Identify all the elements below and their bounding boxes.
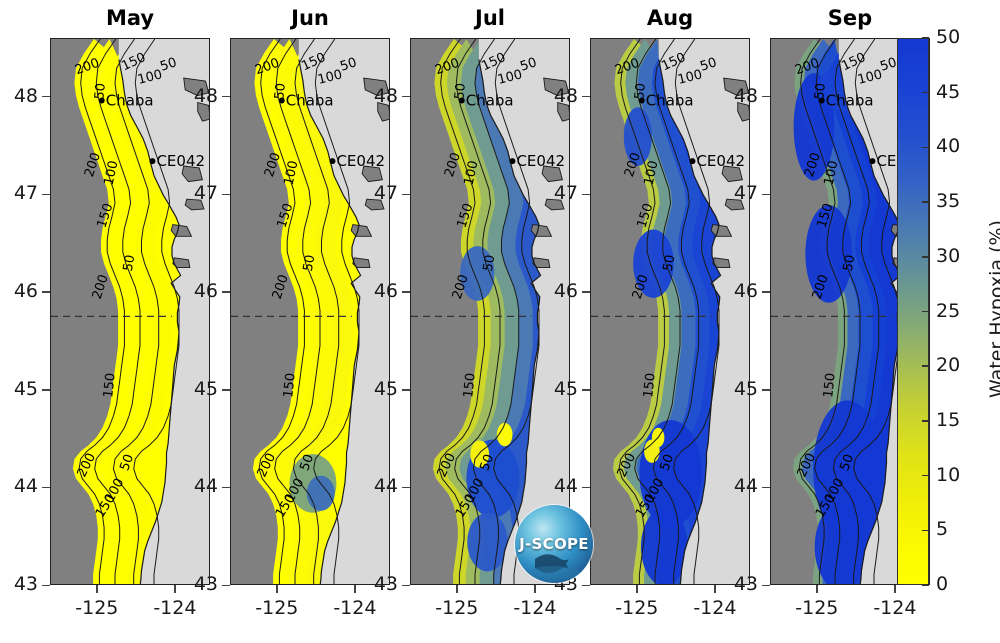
ytick-label: 43 [358, 573, 398, 595]
colorbar-tick-mark [922, 475, 929, 477]
colorbar-tick-mark [922, 147, 929, 149]
xtick-label: -124 [505, 597, 565, 619]
svg-text:150: 150 [101, 372, 119, 398]
j-scope-logo: J-SCOPE [515, 505, 593, 583]
xtick-label: -125 [427, 597, 487, 619]
station-label-ce042: CE042 [696, 152, 745, 170]
map-panel-jul: 2001001505020015020050100150200150501005… [410, 38, 570, 585]
xtick-mark [276, 585, 277, 593]
xtick-mark [456, 585, 457, 593]
colorbar-tick-mark [922, 311, 929, 313]
station-label-chaba: Chaba [646, 92, 694, 110]
ytick-mark [222, 389, 230, 390]
ytick-label: 43 [0, 573, 38, 595]
colorbar-tick-mark [922, 420, 929, 422]
xtick-mark [816, 585, 817, 593]
hypoxia-figure: May2001001505020015020050100150200150501… [0, 0, 1000, 643]
xtick-label: -125 [247, 597, 307, 619]
xtick-label: -125 [787, 597, 847, 619]
colorbar-tick-label: 35 [936, 190, 960, 212]
ytick-label: 48 [178, 85, 218, 107]
ytick-mark [42, 96, 50, 97]
colorbar-tick-label: 20 [936, 354, 960, 376]
ytick-mark [42, 389, 50, 390]
j-scope-logo-text: J-SCOPE [515, 535, 593, 553]
station-label-chaba: Chaba [286, 92, 334, 110]
xtick-mark [96, 585, 97, 593]
svg-text:50: 50 [841, 254, 859, 273]
xtick-mark [354, 585, 355, 593]
svg-text:50: 50 [301, 254, 319, 273]
ytick-mark [762, 291, 770, 292]
station-label-chaba: Chaba [466, 92, 514, 110]
ytick-label: 48 [358, 85, 398, 107]
ytick-label: 45 [538, 378, 578, 400]
colorbar-tick-label: 25 [936, 300, 960, 322]
colorbar-tick-label: 0 [936, 573, 948, 595]
ytick-label: 45 [718, 378, 758, 400]
colorbar-tick-label: 10 [936, 464, 960, 486]
ytick-label: 44 [358, 475, 398, 497]
ytick-mark [762, 487, 770, 488]
ytick-label: 43 [178, 573, 218, 595]
colorbar-tick-label: 30 [936, 245, 960, 267]
svg-text:150: 150 [281, 372, 299, 398]
ytick-label: 47 [0, 182, 38, 204]
ytick-label: 46 [0, 280, 38, 302]
ytick-label: 46 [358, 280, 398, 302]
ytick-mark [582, 194, 590, 195]
colorbar-tick-mark [922, 37, 929, 39]
panel-title-may: May [50, 6, 210, 30]
ytick-label: 44 [178, 475, 218, 497]
ytick-mark [582, 487, 590, 488]
ytick-label: 47 [718, 182, 758, 204]
ytick-label: 47 [538, 182, 578, 204]
ytick-mark [402, 585, 410, 586]
svg-text:150: 150 [461, 372, 479, 398]
ytick-mark [42, 291, 50, 292]
ytick-label: 46 [538, 280, 578, 302]
station-label-ce042: CE042 [516, 152, 565, 170]
xtick-mark [636, 585, 637, 593]
ytick-mark [762, 389, 770, 390]
map-panel-aug: 2001001505020015020050100150200150501005… [590, 38, 750, 585]
xtick-label: -124 [145, 597, 205, 619]
ytick-mark [42, 585, 50, 586]
ytick-label: 45 [178, 378, 218, 400]
ytick-label: 47 [358, 182, 398, 204]
ytick-mark [762, 194, 770, 195]
ytick-mark [402, 96, 410, 97]
xtick-label: -125 [67, 597, 127, 619]
ytick-mark [402, 487, 410, 488]
colorbar-tick-mark [922, 256, 929, 258]
svg-text:50: 50 [661, 254, 679, 273]
colorbar-tick-mark [922, 92, 929, 94]
panel-title-jun: Jun [230, 6, 390, 30]
ytick-label: 48 [538, 85, 578, 107]
colorbar-tick-mark [922, 530, 929, 532]
colorbar-tick-label: 5 [936, 518, 948, 540]
panel-title-aug: Aug [590, 6, 750, 30]
ytick-label: 44 [538, 475, 578, 497]
ytick-label: 46 [178, 280, 218, 302]
ytick-mark [582, 96, 590, 97]
ytick-label: 46 [718, 280, 758, 302]
ytick-label: 44 [0, 475, 38, 497]
xtick-label: -125 [607, 597, 667, 619]
colorbar-tick-label: 40 [936, 135, 960, 157]
panel-title-jul: Jul [410, 6, 570, 30]
xtick-mark [894, 585, 895, 593]
ytick-label: 44 [718, 475, 758, 497]
svg-text:150: 150 [641, 372, 659, 398]
ytick-mark [582, 389, 590, 390]
colorbar-tick-label: 45 [936, 81, 960, 103]
ytick-mark [222, 585, 230, 586]
map-panel-may: 2001001505020015020050100150200150501005… [50, 38, 210, 585]
xtick-mark [714, 585, 715, 593]
colorbar-tick-mark [922, 584, 929, 586]
ytick-mark [582, 585, 590, 586]
ytick-mark [42, 194, 50, 195]
colorbar-axis-label: Water Hypoxia (%) [986, 159, 1000, 459]
station-label-chaba: Chaba [826, 92, 874, 110]
ytick-label: 43 [718, 573, 758, 595]
ytick-label: 48 [0, 85, 38, 107]
colorbar-tick-mark [922, 365, 929, 367]
ytick-mark [582, 291, 590, 292]
svg-text:50: 50 [121, 254, 139, 273]
ytick-mark [402, 389, 410, 390]
ytick-mark [222, 194, 230, 195]
station-label-ce042: CE042 [156, 152, 205, 170]
xtick-label: -124 [325, 597, 385, 619]
xtick-mark [174, 585, 175, 593]
ytick-label: 47 [178, 182, 218, 204]
ytick-mark [762, 96, 770, 97]
ytick-label: 45 [0, 378, 38, 400]
ytick-mark [222, 487, 230, 488]
station-label-ce042: CE042 [336, 152, 385, 170]
ytick-mark [402, 291, 410, 292]
colorbar-tick-mark [922, 201, 929, 203]
panel-title-sep: Sep [770, 6, 930, 30]
ytick-mark [222, 96, 230, 97]
ytick-label: 45 [358, 378, 398, 400]
svg-text:150: 150 [821, 372, 839, 398]
ytick-mark [402, 194, 410, 195]
colorbar-tick-label: 15 [936, 409, 960, 431]
map-panel-jun: 2001001505020015020050100150200150501005… [230, 38, 390, 585]
xtick-label: -124 [865, 597, 925, 619]
ytick-mark [42, 487, 50, 488]
ytick-mark [762, 585, 770, 586]
ytick-label: 48 [718, 85, 758, 107]
colorbar-tick-label: 50 [936, 26, 960, 48]
station-label-chaba: Chaba [106, 92, 154, 110]
svg-text:50: 50 [481, 254, 499, 273]
ytick-mark [222, 291, 230, 292]
xtick-label: -124 [685, 597, 745, 619]
xtick-mark [534, 585, 535, 593]
